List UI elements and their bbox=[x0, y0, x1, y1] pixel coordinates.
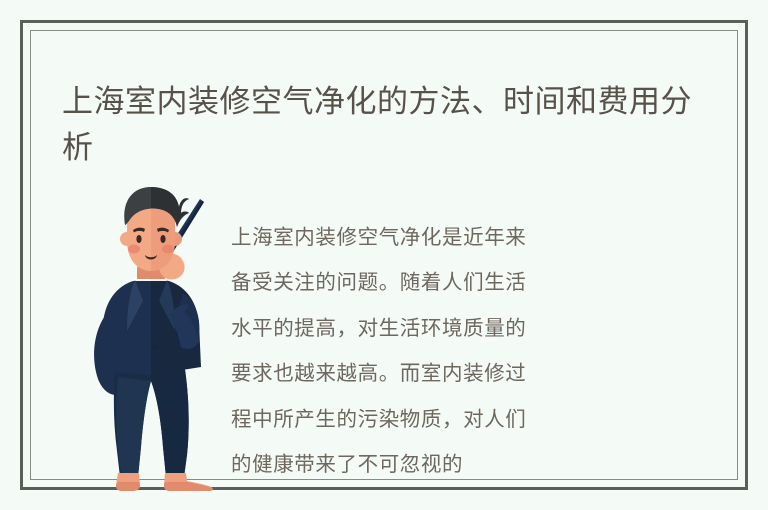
article-body: 上海室内装修空气净化是近年来备受关注的问题。随着人们生活水平的提高，对生活环境质… bbox=[31, 176, 737, 479]
article-card-inner-frame: 上海室内装修空气净化的方法、时间和费用分析 bbox=[30, 30, 738, 480]
article-paragraph: 上海室内装修空气净化是近年来备受关注的问题。随着人们生活水平的提高，对生活环境质… bbox=[231, 215, 531, 488]
article-card: 上海室内装修空气净化的方法、时间和费用分析 bbox=[20, 20, 748, 490]
page-title: 上海室内装修空气净化的方法、时间和费用分析 bbox=[62, 79, 702, 171]
trousers bbox=[114, 363, 189, 477]
feet bbox=[116, 473, 213, 491]
businessman-with-pointer-illustration bbox=[71, 181, 231, 501]
